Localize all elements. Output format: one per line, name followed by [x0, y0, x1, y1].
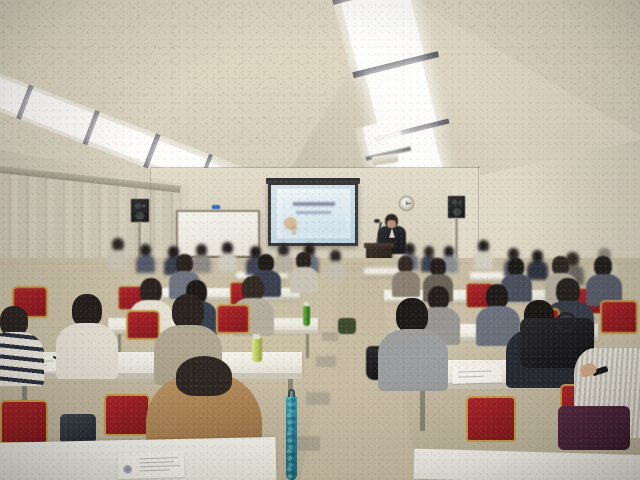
foreground-attendee-hair [176, 356, 232, 396]
presenter-face [387, 220, 396, 228]
torso [136, 255, 155, 273]
projection-screen-surface [271, 185, 355, 243]
banquet-chair [126, 310, 160, 340]
speaker-cone [458, 201, 462, 205]
whiteboard [176, 210, 260, 258]
bag-handle [556, 312, 576, 332]
projection-screen [268, 182, 358, 246]
torso-striped-top [0, 332, 44, 386]
torso [378, 329, 448, 391]
carpet-tile [306, 392, 330, 405]
backpack [338, 318, 356, 334]
slide-subtitle-text [296, 211, 331, 214]
speaker-cone [135, 203, 141, 209]
banquet-chair [466, 396, 516, 442]
banquet-chair [600, 300, 638, 334]
microphone-icon [374, 219, 380, 223]
presentation-slide [277, 189, 350, 238]
paper-text-line [140, 469, 170, 471]
table-edge [140, 297, 300, 300]
photograph-seminar-room: Seminar room with audience facing a proj… [0, 0, 640, 480]
head [594, 256, 612, 276]
speaker-left [131, 199, 149, 222]
green-bottle [303, 306, 310, 326]
marker-pen [212, 205, 220, 209]
torso [274, 255, 293, 273]
speaker-cone [453, 208, 461, 216]
handout-logo [123, 465, 132, 474]
torso [527, 261, 548, 280]
foreground-table [414, 449, 640, 480]
wall-ceiling-seam [150, 167, 480, 168]
carpet-tile [316, 356, 336, 367]
torso [192, 255, 211, 273]
speaker-cone [452, 200, 457, 205]
torso [474, 251, 493, 269]
patterned-bottle [252, 338, 262, 362]
handout-paper [118, 451, 185, 479]
slide-graphic-circle [292, 231, 296, 235]
torso [107, 250, 128, 269]
head [172, 294, 204, 329]
paper-text-line [458, 370, 492, 372]
banquet-chair [104, 394, 150, 436]
handout-paper [452, 365, 503, 384]
backpack [60, 414, 96, 444]
torso [56, 323, 118, 379]
torso [326, 261, 345, 279]
clock-minute-hand [407, 203, 411, 204]
paper-text-line [140, 465, 180, 467]
speaker-right [448, 196, 465, 218]
paper-text-line [458, 376, 484, 378]
umbrella-handle [288, 389, 295, 397]
banquet-chair [216, 304, 250, 334]
paper-text-line [140, 457, 178, 459]
wall-clock [399, 196, 414, 211]
speaker-cone [142, 204, 146, 208]
head [396, 298, 428, 333]
carpet-tile [322, 332, 338, 341]
bottle-cap [304, 302, 309, 306]
slide-title-text [293, 202, 335, 206]
torso [218, 253, 237, 271]
speaker-stand-right [455, 218, 458, 260]
table-leg [420, 389, 425, 431]
paper-text-line [140, 461, 174, 463]
table-leg [306, 334, 309, 358]
torso [392, 271, 420, 297]
umbrella-pattern [286, 395, 297, 480]
bottle-cap [253, 334, 260, 339]
torso [290, 267, 318, 293]
banquet-chair [0, 400, 48, 444]
speaker-cone [136, 212, 144, 220]
coat-on-lap [558, 406, 630, 450]
